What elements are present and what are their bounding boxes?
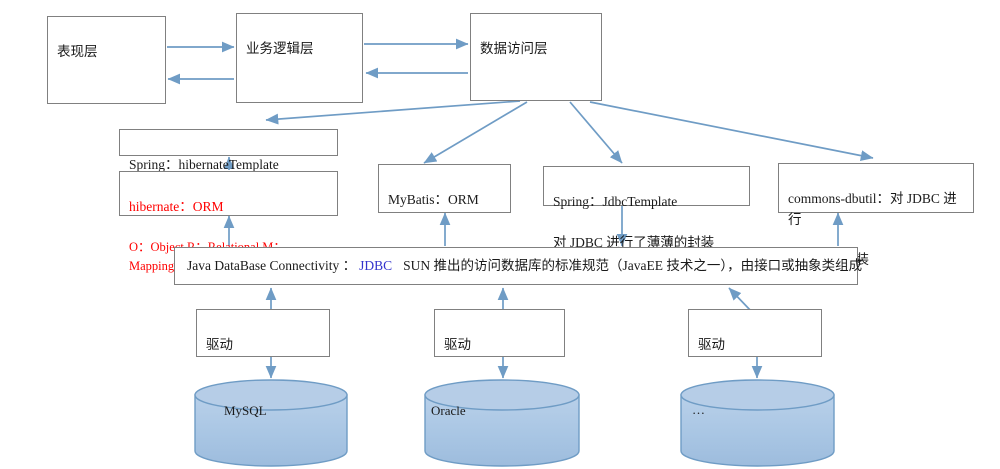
arrow-dao-to-spring-hibernate (266, 101, 520, 120)
jdbc-suffix-text: SUN 推出的访问数据库的标准规范（JavaEE 技术之一），由接口或抽象类组成 (395, 256, 862, 276)
layer-box-business[interactable]: 业务逻辑层 (236, 13, 363, 103)
driver-box-oracle[interactable]: 驱动 (434, 309, 565, 357)
framework-box-mybatis[interactable]: MyBatis：ORM (378, 164, 511, 213)
database-label-oracle: Oracle (431, 403, 466, 419)
framework-label-spring-hibernate-template: Spring：hibernateTemplate (129, 157, 279, 172)
arrow-dao-to-spring-jdbc (570, 102, 622, 163)
framework-label-mybatis: MyBatis：ORM (388, 192, 479, 207)
database-cylinder-oracle[interactable] (423, 379, 581, 467)
layer-label-presentation: 表现层 (57, 44, 98, 59)
driver-box-other[interactable]: 驱动 (688, 309, 822, 357)
driver-box-mysql[interactable]: 驱动 (196, 309, 330, 357)
framework-box-spring-hibernate-template[interactable]: Spring：hibernateTemplate (119, 129, 338, 156)
layer-label-business: 业务逻辑层 (246, 41, 314, 56)
driver-label-oracle: 驱动 (444, 337, 471, 352)
framework-box-spring-jdbc-template[interactable]: Spring：JdbcTemplate 对 JDBC 进行了薄薄的封装 (543, 166, 750, 206)
jdbc-prefix-text: Java DataBase Connectivity ： (187, 256, 356, 276)
arrow-dao-to-commons-dbutil (590, 102, 873, 158)
layer-box-presentation[interactable]: 表现层 (47, 16, 166, 104)
arrow-dao-to-mybatis (424, 102, 527, 163)
diagram-canvas: 表现层 业务逻辑层 数据访问层 Spring：hibernateTemplate… (0, 0, 1000, 469)
jdbc-keyword-text: JDBC (356, 256, 395, 276)
database-cylinder-mysql[interactable] (193, 379, 349, 467)
spring-jdbc-line1: Spring：JdbcTemplate (553, 192, 740, 212)
hibernate-orm-line1: hibernate：ORM (129, 197, 328, 217)
commons-dbutil-line1: commons-dbutil：对 JDBC 进行 (788, 189, 964, 230)
database-cylinder-other[interactable] (679, 379, 836, 467)
database-label-mysql: MySQL (224, 403, 267, 419)
layer-label-dao: 数据访问层 (480, 41, 548, 56)
jdbc-spec-bar[interactable]: Java DataBase Connectivity ： JDBC SUN 推出… (174, 247, 858, 285)
database-label-other: … (692, 402, 705, 418)
framework-box-hibernate-orm[interactable]: hibernate：ORM O：Object R：Relational M：Ma… (119, 171, 338, 216)
layer-box-dao[interactable]: 数据访问层 (470, 13, 602, 101)
driver-label-other: 驱动 (698, 337, 725, 352)
framework-box-commons-dbutil[interactable]: commons-dbutil：对 JDBC 进行 了薄薄的封装 (778, 163, 974, 213)
driver-label-mysql: 驱动 (206, 337, 233, 352)
